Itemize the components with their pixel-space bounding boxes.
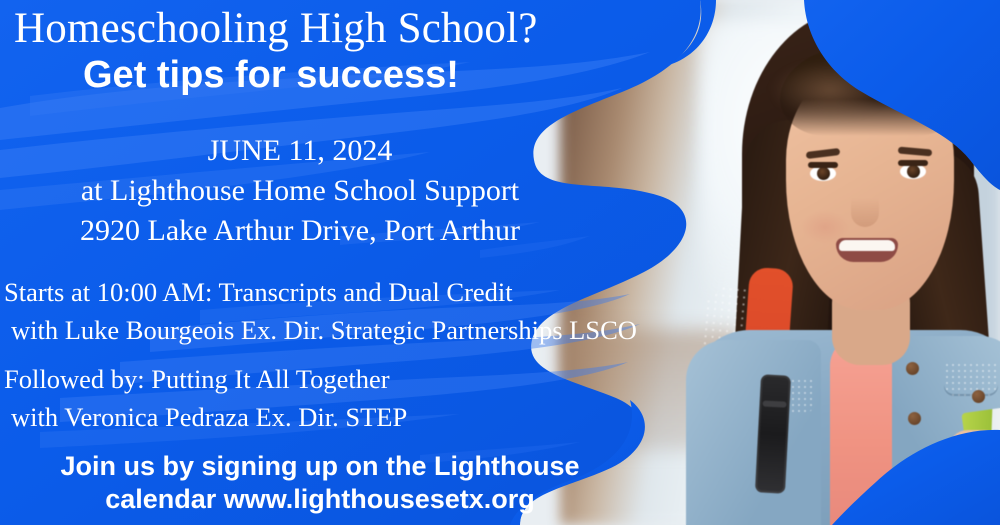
headline-primary: Homeschooling High School? — [14, 6, 538, 52]
event-address: 2920 Lake Arthur Drive, Port Arthur — [0, 211, 600, 251]
session-2-presenter: with Veronica Pedraza Ex. Dir. STEP — [4, 404, 654, 431]
event-date: JUNE 11, 2024 — [0, 131, 600, 171]
session-1-title: Starts at 10:00 AM: Transcripts and Dual… — [4, 279, 654, 306]
cta-line-2: calendar www.lighthousesetx.org — [0, 483, 640, 516]
session-list: Starts at 10:00 AM: Transcripts and Dual… — [4, 279, 654, 430]
session-2-title: Followed by: Putting It All Together — [4, 366, 654, 393]
promotional-flyer: Homeschooling High School? Get tips for … — [0, 0, 1000, 525]
session-1-presenter: with Luke Bourgeois Ex. Dir. Strategic P… — [4, 317, 654, 344]
event-details: JUNE 11, 2024 at Lighthouse Home School … — [0, 131, 600, 251]
event-venue: at Lighthouse Home School Support — [0, 171, 600, 211]
headline-secondary: Get tips for success! — [83, 55, 459, 96]
flyer-text: Homeschooling High School? Get tips for … — [0, 0, 1000, 525]
cta-line-1: Join us by signing up on the Lighthouse — [0, 450, 640, 483]
call-to-action: Join us by signing up on the Lighthouse … — [0, 450, 640, 516]
